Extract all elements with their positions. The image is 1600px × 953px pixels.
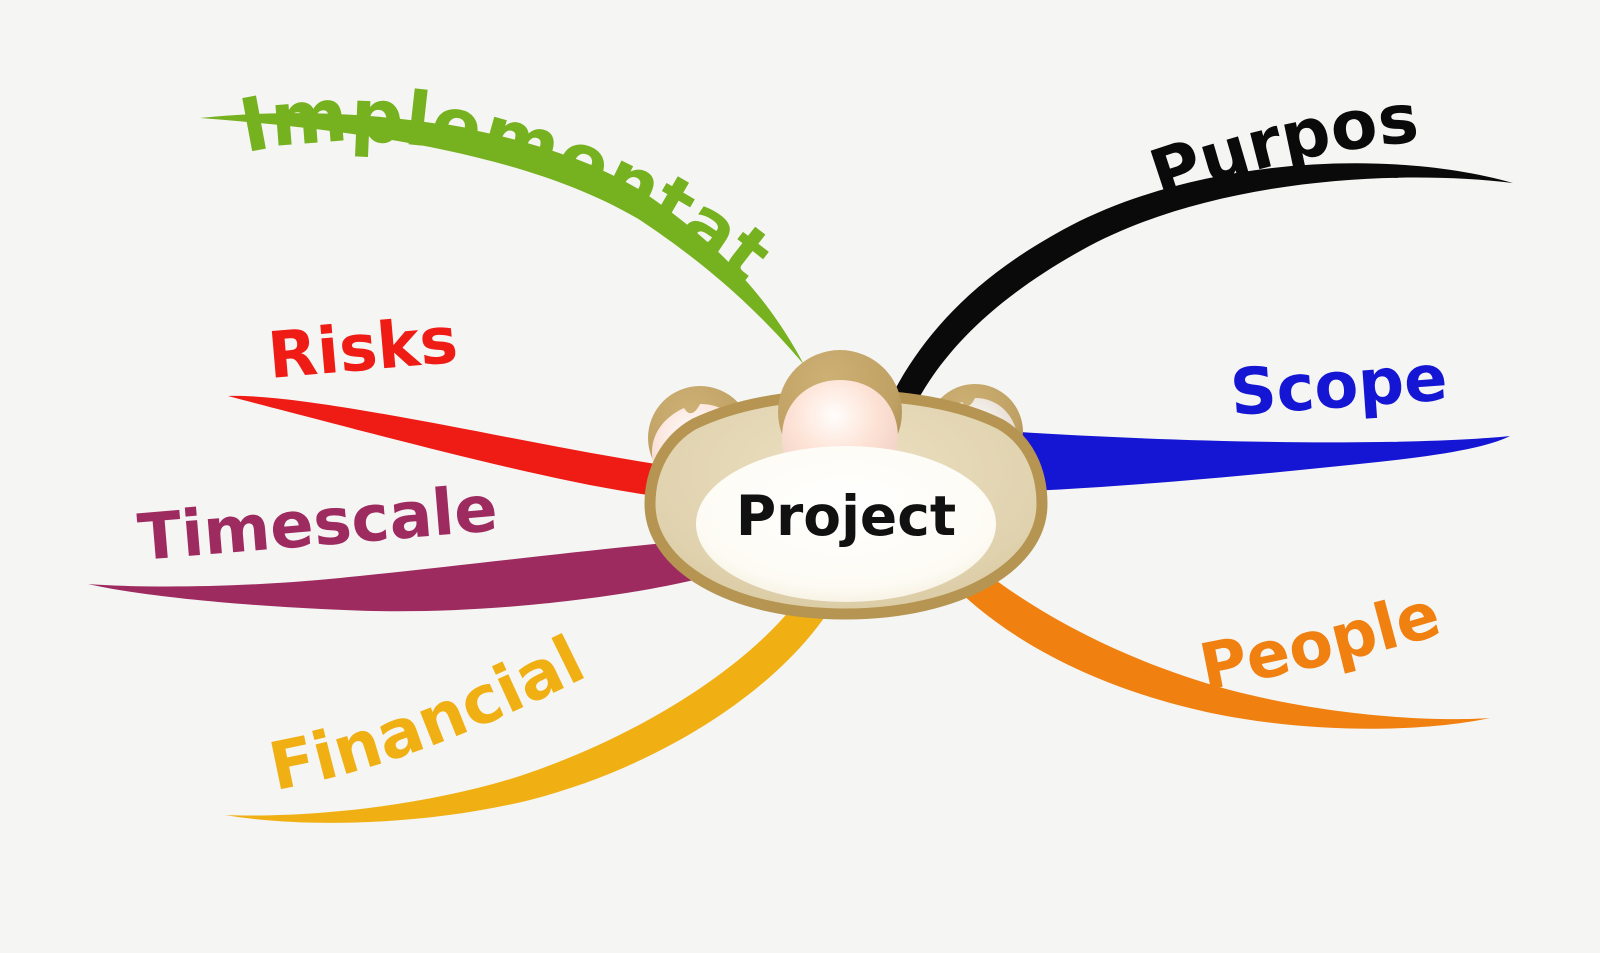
center-label: Project	[736, 484, 956, 548]
branch-label-risks[interactable]: Risks	[0, 0, 611, 394]
branch-scope[interactable]	[990, 430, 1510, 492]
mindmap-canvas: Project Implementation Risks Timescales …	[0, 0, 1600, 953]
branch-label-implementation[interactable]: Implementation	[0, 0, 925, 303]
mindmap-svg: Project Implementation Risks Timescales …	[0, 0, 1600, 953]
branch-label-scope[interactable]: Scope	[0, 0, 1596, 431]
central-node[interactable]: Project	[648, 350, 1042, 614]
